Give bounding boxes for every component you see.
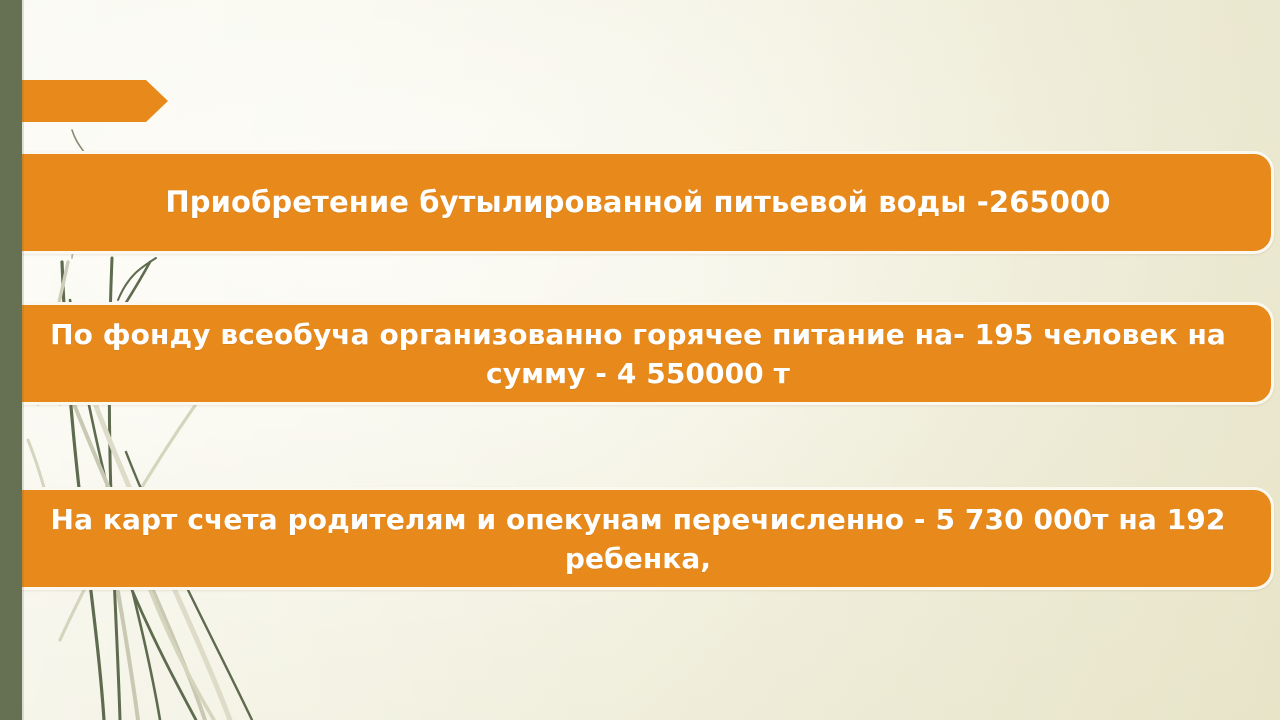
callout-meals[interactable]: По фонду всеобуча организованно горячее … bbox=[2, 302, 1274, 405]
callout-transfers-text: На карт счета родителям и опекунам переч… bbox=[5, 500, 1271, 578]
title-pennant-icon bbox=[0, 78, 170, 124]
callout-water[interactable]: Приобретение бутылированной питьевой вод… bbox=[2, 151, 1274, 254]
presentation-slide: Приобретение бутылированной питьевой вод… bbox=[0, 0, 1280, 720]
callout-water-text: Приобретение бутылированной питьевой вод… bbox=[151, 183, 1124, 222]
left-accent-band bbox=[0, 0, 22, 720]
left-accent-band-edge bbox=[22, 0, 24, 720]
callout-transfers[interactable]: На карт счета родителям и опекунам переч… bbox=[2, 487, 1274, 590]
callout-meals-text: По фонду всеобуча организованно горячее … bbox=[5, 315, 1271, 393]
